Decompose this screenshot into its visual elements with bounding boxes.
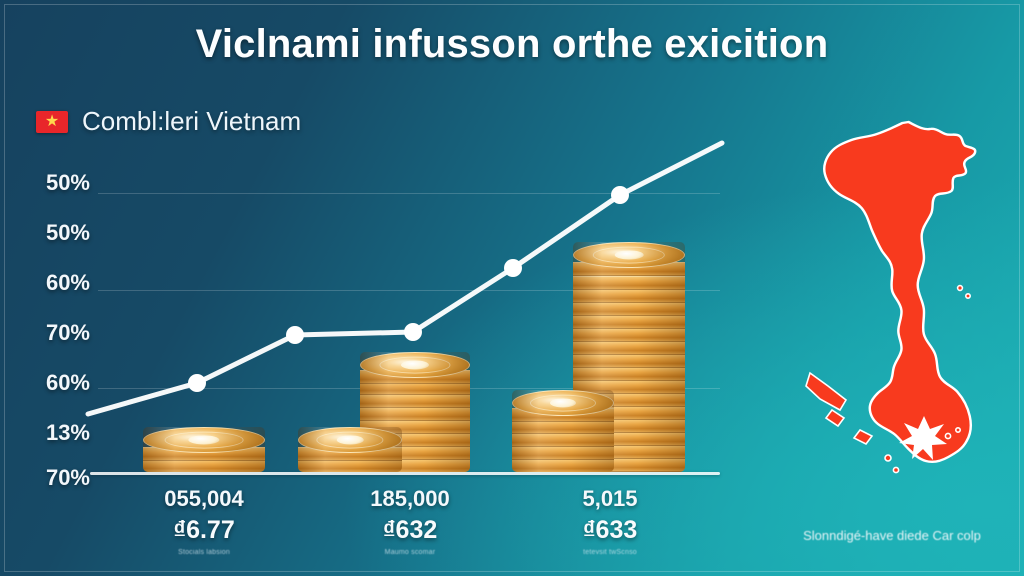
trend-marker (611, 186, 629, 204)
x-axis-caption: tetevsit twScnso (530, 549, 690, 556)
x-axis-value: ₫6.77 (124, 516, 284, 545)
x-axis-group: 185,000 ₫632 Maumo scomar (330, 486, 490, 556)
x-axis-group: 055,004 ₫6.77 Stocials labsion (124, 486, 284, 556)
x-axis-value: ₫633 (530, 516, 690, 545)
x-axis-group: 5,015 ₫633 tetevsit twScnso (530, 486, 690, 556)
coin-stack (512, 390, 614, 472)
x-axis-value: ₫632 (330, 516, 490, 545)
x-axis-caption: Stocials labsion (124, 549, 284, 556)
coin-stack (298, 427, 402, 472)
x-axis-label: 185,000 (330, 486, 490, 512)
x-axis-label: 055,004 (124, 486, 284, 512)
trend-marker (286, 326, 304, 344)
x-axis-caption: Maumo scomar (330, 549, 490, 556)
vietnam-map (772, 118, 1022, 516)
trend-marker (404, 323, 422, 341)
poster-canvas: Viclnami infusson orthe exicition ★ Comb… (0, 0, 1024, 576)
x-axis-label: 5,015 (530, 486, 690, 512)
trend-marker (504, 259, 522, 277)
map-caption: Slonndigé-have diede Car colp (760, 528, 1024, 543)
trend-marker (188, 374, 206, 392)
